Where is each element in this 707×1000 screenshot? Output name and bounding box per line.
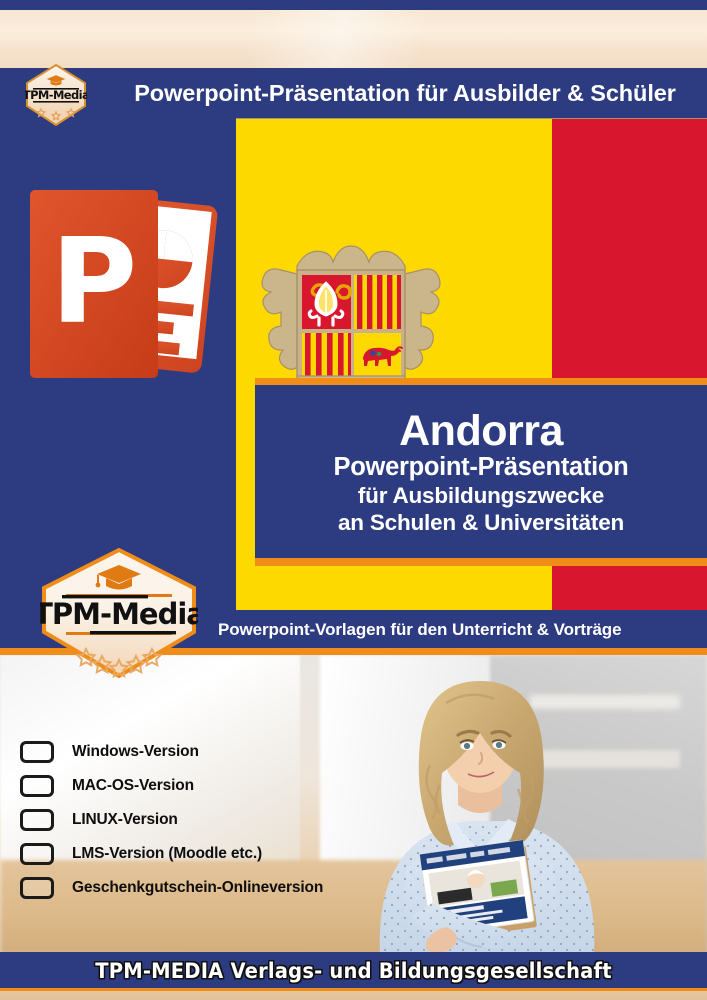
checkbox-lms-version[interactable]: [20, 843, 54, 865]
brand-badge-large: TPM-Media: [40, 548, 198, 678]
top-navy-strip: [0, 0, 707, 10]
page-title-country: Andorra: [399, 409, 563, 454]
footer-company-name: TPM-MEDIA Verlags- und Bildungsgesellsch…: [25, 952, 683, 990]
svg-text:TPM-Media: TPM-Media: [25, 88, 87, 102]
version-options-list: Windows-Version MAC-OS-Version LINUX-Ver…: [20, 735, 400, 905]
title-panel-bottom-accent: [255, 558, 707, 566]
list-item-label: LINUX-Version: [72, 811, 178, 829]
checkbox-windows-version[interactable]: [20, 741, 54, 763]
checkbox-gift-voucher-version[interactable]: [20, 877, 54, 899]
list-item[interactable]: LMS-Version (Moodle etc.): [20, 837, 400, 871]
list-item-label: Windows-Version: [72, 743, 199, 761]
title-panel: Andorra Powerpoint-Präsentation für Ausb…: [255, 378, 707, 558]
list-item[interactable]: Geschenkgutschein-Onlineversion: [20, 871, 400, 905]
title-line-2: für Ausbildungszwecke: [358, 482, 604, 509]
brand-badge-small: TPM-Media: [25, 64, 87, 126]
list-item-label: MAC-OS-Version: [72, 777, 194, 795]
title-line-3: an Schulen & Universitäten: [338, 509, 624, 536]
list-item-label: LMS-Version (Moodle etc.): [72, 845, 262, 863]
list-item[interactable]: MAC-OS-Version: [20, 769, 400, 803]
list-item-label: Geschenkgutschein-Onlineversion: [72, 879, 323, 897]
footer-bottom-strip: [0, 990, 707, 1000]
checkbox-linux-version[interactable]: [20, 809, 54, 831]
svg-text:TPM-Media: TPM-Media: [40, 597, 198, 631]
list-item[interactable]: LINUX-Version: [20, 803, 400, 837]
cream-strip: [0, 10, 707, 68]
checkbox-mac-os-version[interactable]: [20, 775, 54, 797]
svg-text:P: P: [51, 212, 137, 350]
subtitle-text: Powerpoint-Vorlagen für den Unterricht &…: [218, 610, 621, 650]
product-cover: Powerpoint-Präsentation für Ausbilder & …: [0, 0, 707, 1000]
header-tagline: Powerpoint-Präsentation für Ausbilder & …: [120, 68, 690, 118]
powerpoint-icon: P: [22, 182, 230, 387]
title-line-1: Powerpoint-Präsentation: [334, 453, 629, 482]
list-item[interactable]: Windows-Version: [20, 735, 400, 769]
flag-top-hairline: [236, 118, 707, 119]
footer-orange-line: [0, 988, 707, 991]
andorra-coat-of-arms: [253, 236, 449, 396]
